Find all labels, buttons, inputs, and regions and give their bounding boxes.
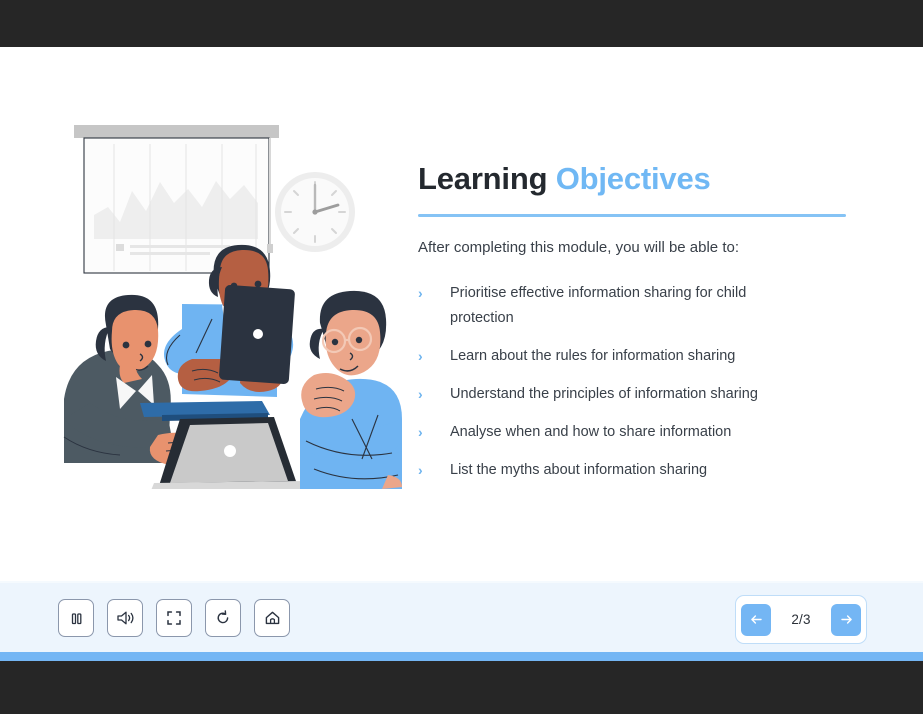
pause-button[interactable] bbox=[58, 599, 94, 637]
pagination-control: 2/3 bbox=[735, 595, 867, 644]
chevron-right-icon: › bbox=[418, 458, 438, 482]
slide-canvas: Learning Objectives After completing thi… bbox=[0, 47, 923, 581]
fullscreen-button[interactable] bbox=[156, 599, 192, 637]
team-collaboration-illustration bbox=[62, 119, 402, 489]
chevron-right-icon: › bbox=[418, 382, 438, 406]
list-item-label: Analyse when and how to share informatio… bbox=[450, 420, 800, 445]
list-item: › Learn about the rules for information … bbox=[418, 344, 848, 369]
volume-icon bbox=[116, 610, 135, 626]
chevron-right-icon: › bbox=[418, 344, 438, 368]
list-item-label: List the myths about information sharing bbox=[450, 458, 800, 483]
next-page-button[interactable] bbox=[831, 604, 861, 636]
objectives-list: › Prioritise effective information shari… bbox=[418, 281, 848, 483]
playback-controls bbox=[58, 599, 290, 637]
volume-button[interactable] bbox=[107, 599, 143, 637]
slide-content: Learning Objectives After completing thi… bbox=[418, 161, 848, 483]
home-icon bbox=[264, 610, 281, 626]
pause-icon bbox=[69, 611, 84, 626]
slide-player: Learning Objectives After completing thi… bbox=[0, 0, 923, 714]
page-counter: 2/3 bbox=[791, 612, 810, 627]
chevron-right-icon: › bbox=[418, 281, 438, 305]
previous-page-button[interactable] bbox=[741, 604, 771, 636]
arrow-right-icon bbox=[839, 613, 854, 626]
fullscreen-icon bbox=[166, 610, 182, 626]
replay-icon bbox=[215, 610, 231, 626]
page-title-accent: Objectives bbox=[556, 161, 711, 196]
page-title: Learning Objectives bbox=[418, 161, 848, 197]
list-item: › Analyse when and how to share informat… bbox=[418, 420, 848, 445]
home-button[interactable] bbox=[254, 599, 290, 637]
arrow-left-icon bbox=[749, 613, 764, 626]
replay-button[interactable] bbox=[205, 599, 241, 637]
title-underline-rule bbox=[418, 214, 846, 217]
bottom-chrome-bar bbox=[0, 661, 923, 714]
chevron-right-icon: › bbox=[418, 420, 438, 444]
list-item-label: Learn about the rules for information sh… bbox=[450, 344, 800, 369]
list-item: › Understand the principles of informati… bbox=[418, 382, 848, 407]
slide-intro-text: After completing this module, you will b… bbox=[418, 237, 848, 260]
list-item-label: Prioritise effective information sharing… bbox=[450, 281, 800, 331]
list-item-label: Understand the principles of information… bbox=[450, 382, 800, 407]
progress-bar[interactable] bbox=[0, 652, 923, 661]
list-item: › List the myths about information shari… bbox=[418, 458, 848, 483]
page-title-primary: Learning bbox=[418, 161, 547, 196]
top-chrome-bar bbox=[0, 0, 923, 47]
player-control-bar: 2/3 bbox=[0, 581, 923, 652]
list-item: › Prioritise effective information shari… bbox=[418, 281, 848, 331]
